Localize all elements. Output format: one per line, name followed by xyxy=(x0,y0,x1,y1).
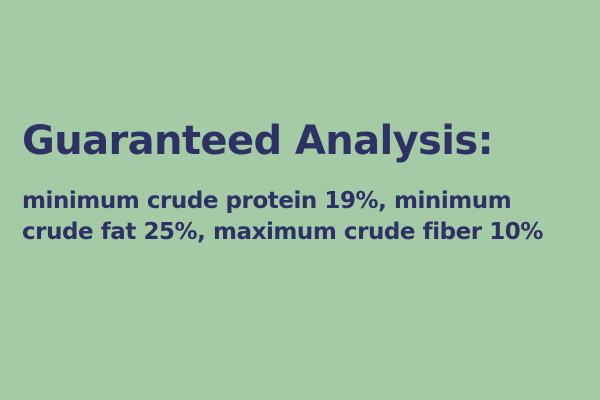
nutrient-statement: minimum crude protein 19%, minimum crude… xyxy=(22,186,586,248)
page-title: Guaranteed Analysis: xyxy=(22,118,586,164)
label-content: Guaranteed Analysis: minimum crude prote… xyxy=(22,118,586,248)
guaranteed-analysis-card: Guaranteed Analysis: minimum crude prote… xyxy=(0,0,600,400)
nutrient-statement-line: minimum crude protein 19%, minimum xyxy=(22,186,586,217)
nutrient-statement-line: crude fat 25%, maximum crude fiber 10% xyxy=(22,217,586,248)
